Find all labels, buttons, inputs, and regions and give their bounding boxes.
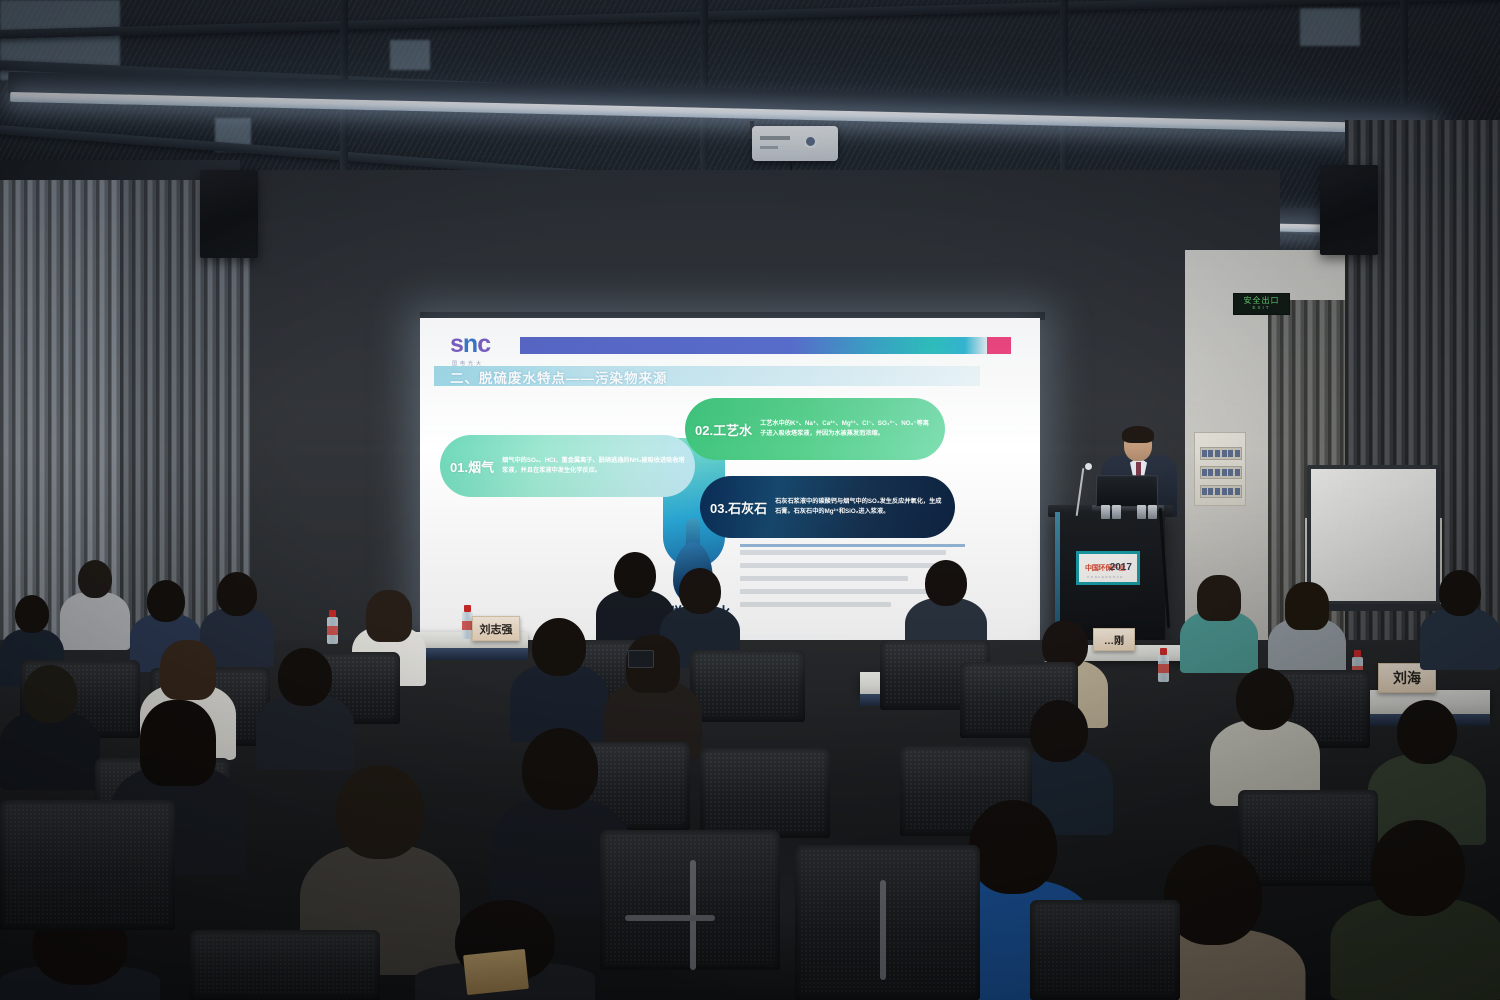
audience-head xyxy=(1439,570,1481,616)
podium-sign-year: 2017 xyxy=(1110,562,1132,573)
ceiling-skylight-glow xyxy=(1300,8,1360,46)
cup xyxy=(1137,505,1146,519)
audience-member xyxy=(60,560,130,650)
slide-bubble-01-text: 烟气中的SO₂、HCl、重金属离子、脱硝逃逸的NH₃被吸收进吸收塔浆液，并且在浆… xyxy=(502,456,685,475)
audience-chair xyxy=(1030,900,1180,1000)
water-bottle xyxy=(327,610,338,644)
podium-sign-subtitle: CONFERENCE xyxy=(1087,575,1124,579)
audience-head xyxy=(23,665,77,723)
audience-head xyxy=(1371,820,1465,916)
audience-head xyxy=(278,648,332,706)
audience-hair xyxy=(1285,582,1329,630)
audience-member xyxy=(1180,575,1258,673)
audience-torso xyxy=(1420,608,1500,670)
audience-chair xyxy=(190,930,380,1000)
audience-head xyxy=(15,595,49,633)
chair-leg xyxy=(880,880,886,980)
slide-bubble-03-number: 03.石灰石 xyxy=(710,498,767,517)
audience-hair xyxy=(366,590,412,642)
audience-member xyxy=(1268,582,1346,680)
exit-sign: 安全出口 EXIT xyxy=(1233,293,1290,315)
notebook xyxy=(463,949,529,995)
audience-hair xyxy=(140,700,216,786)
audience-member xyxy=(1210,668,1320,806)
audience-head xyxy=(1397,700,1457,764)
audience-head xyxy=(1030,700,1088,762)
audience-head xyxy=(532,618,586,676)
slide-bubble-03: 03.石灰石 石灰石浆液中的碳酸钙与烟气中的SO₂发生反应并氧化，生成石膏。石灰… xyxy=(700,476,955,538)
slide-bubble-03-text: 石灰石浆液中的碳酸钙与烟气中的SO₂发生反应并氧化，生成石膏。石灰石中的Mg²⁺… xyxy=(775,497,945,516)
slide-bubble-01: 01.烟气 烟气中的SO₂、HCl、重金属离子、脱硝逃逸的NH₃被吸收进吸收塔浆… xyxy=(440,435,695,497)
audience-chair xyxy=(795,845,980,1000)
wall-speaker-right xyxy=(1320,165,1378,255)
exit-sign-label-cn: 安全出口 xyxy=(1244,297,1280,305)
audience-head xyxy=(925,560,967,606)
projector xyxy=(752,126,838,161)
audience-head xyxy=(969,800,1057,894)
slide-bubble-01-number: 01.烟气 xyxy=(450,457,494,476)
exit-sign-label-en: EXIT xyxy=(1252,306,1270,311)
audience-hair xyxy=(1197,575,1241,621)
projector-vent xyxy=(760,146,778,149)
wall-control-panel[interactable] xyxy=(1194,432,1246,506)
slide-title: 二、脱硫废水特点——污染物来源 xyxy=(450,367,668,387)
slide-header-band-accent xyxy=(987,337,1011,354)
audience-head xyxy=(336,765,424,859)
cup xyxy=(1112,505,1121,519)
slide-bubble-02: 02.工艺水 工艺水中的K⁺、Na⁺、Ca²⁺、Mg²⁺、Cl⁻、SO₄²⁻、N… xyxy=(685,398,945,460)
audience-head xyxy=(147,580,185,622)
chair-base xyxy=(625,915,715,921)
audience-head xyxy=(78,560,112,598)
audience-chair xyxy=(700,748,830,838)
microphone-head xyxy=(1085,463,1092,470)
slide-bubble-02-text: 工艺水中的K⁺、Na⁺、Ca²⁺、Mg²⁺、Cl⁻、SO₄²⁻、NO₃⁻等离子进… xyxy=(760,419,935,438)
audience-member xyxy=(1420,570,1500,670)
audience-torso xyxy=(60,592,130,650)
audience-chair xyxy=(0,800,175,930)
cup xyxy=(1148,505,1157,519)
projector-vent xyxy=(760,136,790,140)
conference-room-photo: 安全出口 EXIT snc 国电光大 二、脱硫废水特点——污染物来源 01.烟气… xyxy=(0,0,1500,1000)
audience-head xyxy=(1236,668,1294,730)
audience-head xyxy=(217,572,257,616)
slide-logo: snc xyxy=(450,332,490,357)
projector-lens xyxy=(804,135,817,148)
control-panel-row[interactable] xyxy=(1200,466,1242,479)
laptop-screen[interactable] xyxy=(1096,475,1159,507)
audience-member xyxy=(256,648,354,770)
audience-member xyxy=(510,618,608,742)
podium-sign: 中国环保产业 2017 CONFERENCE xyxy=(1076,551,1140,585)
audience-head xyxy=(614,552,656,598)
slide-bubble-02-number: 02.工艺水 xyxy=(695,420,752,439)
water-bottle xyxy=(1158,648,1169,682)
audience-member xyxy=(1330,820,1500,1000)
slide-divider-rule xyxy=(740,544,965,547)
cup xyxy=(1101,505,1110,519)
presenter-hair xyxy=(1122,426,1154,443)
audience-head xyxy=(679,568,721,614)
audience-chair xyxy=(690,650,805,722)
audience-member xyxy=(0,665,100,790)
slide-header-band xyxy=(520,337,988,354)
control-panel-row[interactable] xyxy=(1200,447,1242,460)
audience-hair xyxy=(160,640,216,700)
ceiling-skylight-glow xyxy=(390,40,430,70)
wall-speaker-left xyxy=(200,170,258,258)
smartphone[interactable] xyxy=(628,650,654,668)
audience-head xyxy=(522,728,598,810)
control-panel-row[interactable] xyxy=(1200,485,1242,498)
